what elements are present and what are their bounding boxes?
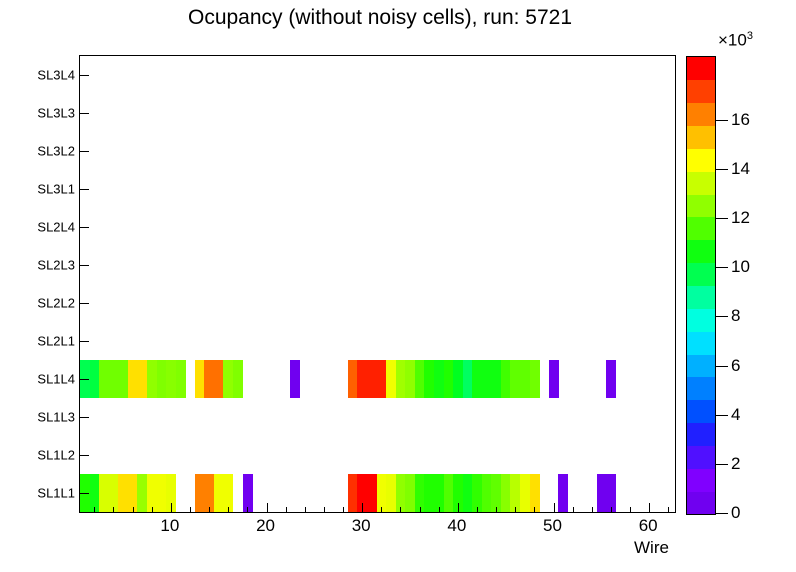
heatmap-cell: [157, 474, 167, 512]
heatmap-cell: [424, 474, 434, 512]
heatmap-cell: [290, 360, 300, 398]
x-axis-tick: [305, 507, 306, 512]
y-axis-label-sl1l1: SL1L1: [37, 486, 75, 501]
x-axis-tick: [190, 507, 191, 512]
y-axis-label-sl1l2: SL1L2: [37, 448, 75, 463]
heatmap-cell: [510, 360, 520, 398]
x-axis-tick: [420, 507, 421, 512]
y-axis-tick: [80, 75, 89, 76]
heatmap-cell: [223, 360, 233, 398]
plot-canvas: Ocupancy (without noisy cells), run: 572…: [0, 0, 796, 572]
colorbar-band: [687, 57, 715, 80]
x-axis-tick-label: 10: [160, 516, 179, 536]
heatmap-cell: [405, 474, 415, 512]
y-axis-tick: [80, 493, 89, 494]
x-axis-tick: [381, 507, 382, 512]
x-axis-tick: [649, 503, 650, 512]
x-axis-tick: [286, 507, 287, 512]
colorbar-exponent-base: ×10: [718, 31, 747, 50]
plot-frame: SL1L1SL1L2SL1L3SL1L4SL2L1SL2L2SL2L3SL2L4…: [79, 55, 676, 513]
colorbar-tick-label: 16: [731, 110, 750, 130]
heatmap-cell: [405, 360, 415, 398]
heatmap-cell: [377, 360, 387, 398]
y-axis-tick: [80, 379, 89, 380]
heatmap-cell: [357, 360, 367, 398]
colorbar-band: [687, 468, 715, 491]
heatmap-cell: [520, 474, 530, 512]
colorbar-band: [687, 308, 715, 331]
heatmap-cell: [472, 360, 482, 398]
colorbar-band: [687, 491, 715, 514]
x-axis-tick-label: 50: [543, 516, 562, 536]
colorbar-tick-label: 12: [731, 208, 750, 228]
x-axis-tick: [439, 507, 440, 512]
heatmap-cell: [176, 360, 186, 398]
y-axis-label-sl2l3: SL2L3: [37, 258, 75, 273]
x-axis-tick: [362, 503, 363, 512]
colorbar-band: [687, 126, 715, 149]
colorbar-tick: [716, 316, 728, 317]
x-axis-tick: [94, 507, 95, 512]
colorbar-band: [687, 263, 715, 286]
y-axis-tick: [80, 189, 89, 190]
heatmap-cell: [453, 360, 463, 398]
heatmap-cell: [606, 360, 616, 398]
heatmap-cell: [386, 474, 396, 512]
heatmap-cell: [195, 474, 205, 512]
colorbar-exponent-label: ×103: [718, 30, 753, 51]
colorbar-tick: [716, 120, 728, 121]
y-axis-tick: [80, 151, 89, 152]
colorbar-tick-label: 4: [731, 405, 740, 425]
colorbar-band: [687, 194, 715, 217]
colorbar-band: [687, 217, 715, 240]
x-axis-tick-label: 40: [447, 516, 466, 536]
heatmap-cell: [233, 360, 243, 398]
page-title: Ocupancy (without noisy cells), run: 572…: [0, 6, 760, 30]
y-axis-tick: [80, 341, 89, 342]
x-axis-tick: [611, 507, 612, 512]
x-axis-tick-label: 20: [256, 516, 275, 536]
heatmap-cell: [367, 474, 377, 512]
heatmap-cell: [147, 360, 157, 398]
colorbar-band: [687, 377, 715, 400]
y-axis-tick: [80, 113, 89, 114]
y-axis-label-sl2l2: SL2L2: [37, 296, 75, 311]
heatmap-cell: [386, 360, 396, 398]
y-axis-tick: [80, 303, 89, 304]
colorbar-tick: [716, 218, 728, 219]
heatmap-cell: [128, 360, 138, 398]
heatmap-cell: [530, 360, 540, 398]
colorbar-tick: [716, 169, 728, 170]
x-axis-tick: [554, 503, 555, 512]
heatmap-cell: [597, 474, 607, 512]
y-axis-label-sl2l4: SL2L4: [37, 220, 75, 235]
y-axis-label-sl2l1: SL2L1: [37, 334, 75, 349]
x-axis-tick: [592, 507, 593, 512]
colorbar: [686, 56, 716, 515]
x-axis-tick: [133, 507, 134, 512]
heatmap-cell: [434, 360, 444, 398]
colorbar-band: [687, 400, 715, 423]
colorbar-band: [687, 445, 715, 468]
colorbar-tick-label: 2: [731, 454, 740, 474]
heatmap-cell: [482, 474, 492, 512]
y-axis-tick: [80, 265, 89, 266]
heatmap-cell: [118, 474, 128, 512]
x-axis-tick: [152, 507, 153, 512]
x-axis-tick: [496, 507, 497, 512]
x-axis-tick: [228, 507, 229, 512]
x-axis-tick: [400, 507, 401, 512]
heatmap-cell: [166, 360, 176, 398]
heatmap-cell: [99, 474, 109, 512]
colorbar-band: [687, 354, 715, 377]
colorbar-tick-label: 10: [731, 257, 750, 277]
colorbar-band: [687, 148, 715, 171]
heatmap-cell: [463, 474, 473, 512]
heatmap-cell: [396, 360, 406, 398]
x-axis-tick: [113, 507, 114, 512]
heatmap-cell: [195, 360, 205, 398]
colorbar-band: [687, 423, 715, 446]
heatmap-cell: [444, 360, 454, 398]
heatmap-cell: [348, 474, 358, 512]
x-axis-tick: [534, 507, 535, 512]
x-axis-title: Wire: [634, 538, 669, 558]
colorbar-tick: [716, 464, 728, 465]
x-axis-tick-label: 30: [352, 516, 371, 536]
heatmap-cell: [137, 360, 147, 398]
colorbar-tick-label: 14: [731, 159, 750, 179]
x-axis-tick: [458, 503, 459, 512]
y-axis-tick: [80, 227, 89, 228]
x-axis-tick: [209, 507, 210, 512]
heatmap-cell: [109, 360, 119, 398]
colorbar-tick-label: 8: [731, 306, 740, 326]
colorbar-exponent-power: 3: [747, 30, 753, 42]
colorbar-band: [687, 331, 715, 354]
x-axis-tick: [668, 507, 669, 512]
heatmap-cell: [491, 360, 501, 398]
y-axis-label-sl1l4: SL1L4: [37, 372, 75, 387]
heatmap-cell: [214, 360, 224, 398]
heatmap-cell: [501, 360, 511, 398]
x-axis-tick: [171, 503, 172, 512]
heatmap-cell: [137, 474, 147, 512]
colorbar-tick: [716, 267, 728, 268]
y-axis-label-sl3l1: SL3L1: [37, 182, 75, 197]
x-axis-tick: [343, 507, 344, 512]
x-axis-tick: [247, 507, 248, 512]
y-axis-tick: [80, 455, 89, 456]
colorbar-axis: 0246810121416: [716, 56, 786, 513]
heatmap-cell: [520, 360, 530, 398]
heatmap-cell: [157, 360, 167, 398]
heatmap-cell: [214, 474, 224, 512]
heatmap-cell: [204, 360, 214, 398]
heatmap-cell: [558, 474, 568, 512]
heatmap-cell: [367, 360, 377, 398]
heatmap-cells-layer: [80, 56, 675, 512]
colorbar-band: [687, 103, 715, 126]
x-axis-tick: [324, 507, 325, 512]
heatmap-cell: [444, 474, 454, 512]
colorbar-tick-label: 6: [731, 356, 740, 376]
heatmap-cell: [415, 360, 425, 398]
colorbar-band: [687, 171, 715, 194]
y-axis-label-sl3l3: SL3L3: [37, 106, 75, 121]
y-axis-label-sl3l2: SL3L2: [37, 144, 75, 159]
heatmap-cell: [118, 360, 128, 398]
x-axis-tick: [630, 507, 631, 512]
y-axis-label-sl1l3: SL1L3: [37, 410, 75, 425]
x-axis-tick: [477, 507, 478, 512]
heatmap-cell: [549, 360, 559, 398]
x-axis-tick-label: 60: [639, 516, 658, 536]
colorbar-band: [687, 240, 715, 263]
heatmap-cell: [482, 360, 492, 398]
heatmap-cell: [99, 360, 109, 398]
colorbar-band: [687, 286, 715, 309]
heatmap-cell: [463, 360, 473, 398]
heatmap-cell: [90, 360, 100, 398]
colorbar-tick: [716, 513, 728, 514]
x-axis-tick: [267, 503, 268, 512]
heatmap-cell: [501, 474, 511, 512]
heatmap-cell: [424, 360, 434, 398]
colorbar-tick: [716, 366, 728, 367]
colorbar-tick: [716, 415, 728, 416]
y-axis-tick: [80, 417, 89, 418]
x-axis-tick: [573, 507, 574, 512]
colorbar-band: [687, 80, 715, 103]
colorbar-tick-label: 0: [731, 503, 740, 523]
heatmap-cell: [348, 360, 358, 398]
y-axis-label-sl3l4: SL3L4: [37, 68, 75, 83]
x-axis-tick: [515, 507, 516, 512]
